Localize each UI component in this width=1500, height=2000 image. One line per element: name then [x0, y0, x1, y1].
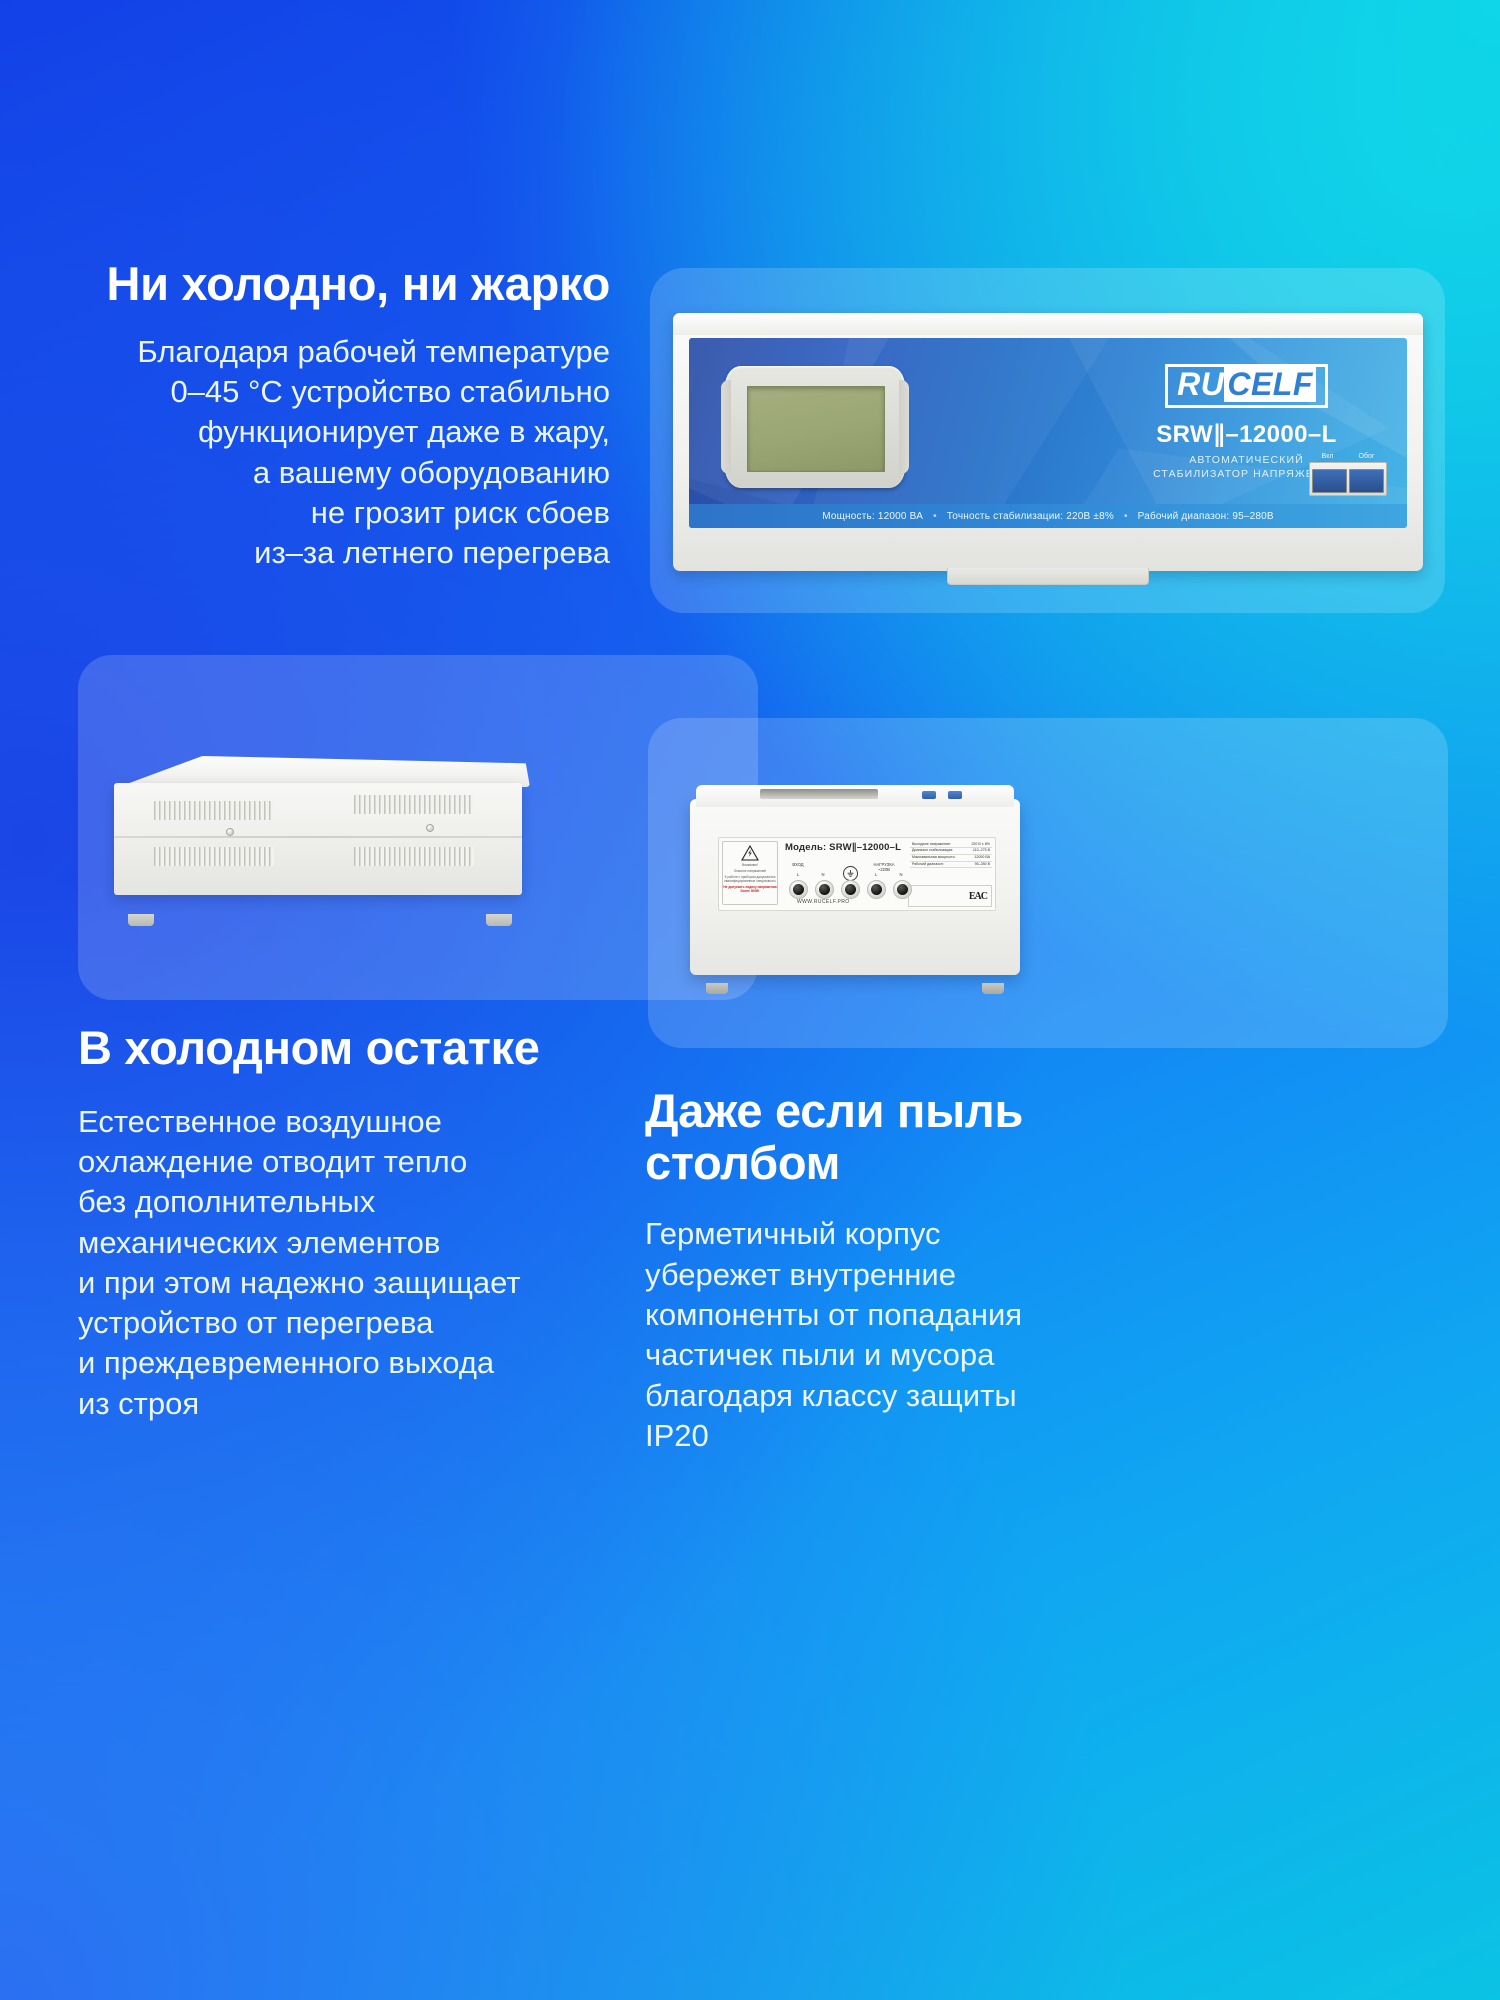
- spec-row: Выходное напряжение: 220 В ± 8%: [910, 841, 992, 848]
- vent-grille: [354, 847, 474, 866]
- device-foot: [128, 914, 154, 926]
- device-rear-lid: [696, 785, 1014, 807]
- logo-text-ru: RU: [1177, 366, 1224, 402]
- poster-background: Ни холодно, ни жарко Благодаря рабочей т…: [0, 0, 1500, 2000]
- spec-row: Диапазон стабилизации: 110–275 В: [910, 848, 992, 855]
- device-model-name: SRW∥–12000–L: [1104, 420, 1389, 449]
- terminal-port[interactable]: [867, 880, 886, 899]
- section-2-body-line: охлаждение отводит тепло: [78, 1142, 738, 1182]
- high-voltage-warning-icon: [741, 845, 759, 861]
- spec-separator-icon: •: [933, 511, 937, 522]
- section-3-body-line: убережет внутренние: [645, 1255, 1305, 1295]
- breaker-switch-2[interactable]: [1349, 469, 1384, 493]
- certification-box: EAC: [908, 885, 992, 907]
- stabilizer-rear-view: Внимание! Опасное напряжение! К работе с…: [690, 785, 1020, 985]
- logo-text-celf: CELF: [1224, 366, 1316, 402]
- section-3-body-line: компоненты от попадания: [645, 1295, 1305, 1335]
- manufacturer-website: WWW.RUCELF.PRO: [797, 899, 850, 905]
- section-1-body-line: 0–45 °C устройство стабильно: [0, 372, 610, 412]
- section-1-body: Благодаря рабочей температуре 0–45 °C ус…: [0, 332, 610, 574]
- warning-red-text: Не допускать подачу напряжения более 300…: [723, 885, 777, 893]
- terminal-indicator: [948, 791, 962, 799]
- stabilizer-side-view: [110, 755, 530, 915]
- section-2-body-line: и преждевременного выхода: [78, 1343, 738, 1383]
- spec-value: 110–275 В: [973, 848, 990, 853]
- port-label-load-n: N: [890, 872, 912, 877]
- device-foot: [706, 983, 728, 994]
- section-3-body-line: IP20: [645, 1416, 1305, 1456]
- section-3-heading-line: Даже если пыль: [645, 1085, 1305, 1137]
- terminal-indicator: [922, 791, 936, 799]
- section-1-body-line: Благодаря рабочей температуре: [0, 332, 610, 372]
- breaker-switch-1[interactable]: [1312, 469, 1347, 493]
- port-label-input-l: L: [787, 872, 809, 877]
- section-3-body-line: благодаря классу защиты: [645, 1376, 1305, 1416]
- section-2-body-line: Естественное воздушное: [78, 1102, 738, 1142]
- rear-info-label: Внимание! Опасное напряжение! К работе с…: [718, 837, 996, 911]
- screw-icon: [426, 824, 434, 832]
- section-2-body-line: и при этом надежно защищает: [78, 1263, 738, 1303]
- port-label-load-l: L: [865, 872, 887, 877]
- port-group-label-input: ВХОД: [787, 862, 809, 867]
- warning-label: Внимание! Опасное напряжение! К работе с…: [722, 841, 778, 905]
- spec-key: Максимальная мощность:: [912, 855, 956, 860]
- breaker-label-left: Вкл: [1322, 453, 1334, 460]
- device-faceplate: RUCELF SRW∥–12000–L АВТОМАТИЧЕСКИЙ СТАБИ…: [689, 338, 1407, 528]
- warning-title: Внимание!: [742, 863, 758, 867]
- terminal-port[interactable]: [789, 880, 808, 899]
- section-2-body-line: из строя: [78, 1384, 738, 1424]
- device-side-body: [114, 783, 522, 895]
- stabilizer-front-view: RUCELF SRW∥–12000–L АВТОМАТИЧЕСКИЙ СТАБИ…: [673, 313, 1423, 571]
- spec-strip: Мощность: 12000 ВА • Точность стабилизац…: [689, 504, 1407, 528]
- spec-separator-icon: •: [1124, 511, 1128, 522]
- spec-value: 12000 ВА: [974, 855, 990, 860]
- section-2-heading: В холодном остатке: [78, 1022, 738, 1074]
- device-foot: [486, 914, 512, 926]
- spec-row: Рабочий диапазон: 95–280 В: [910, 862, 992, 869]
- section-1-body-line: а вашему оборудованию: [0, 453, 610, 493]
- spec-accuracy: Точность стабилизации: 220В ±8%: [947, 511, 1114, 522]
- section-3-body-line: частичек пыли и мусора: [645, 1335, 1305, 1375]
- lcd-display: [747, 386, 885, 472]
- warning-note: К работе с прибором допускаются квалифиц…: [723, 875, 777, 883]
- port-label-input-n: N: [812, 872, 834, 877]
- section-3-heading-line: столбом: [645, 1137, 1305, 1189]
- vent-grille: [354, 795, 474, 814]
- section-1-body-line: из–за летнего перегрева: [0, 533, 610, 573]
- screw-icon: [226, 828, 234, 836]
- section-2-body-line: без дополнительных: [78, 1182, 738, 1222]
- spec-value: 220 В ± 8%: [971, 842, 990, 847]
- section-3-body: Герметичный корпус убережет внутренние к…: [645, 1214, 1305, 1456]
- section-cold-remainder-text: В холодном остатке Естественное воздушно…: [78, 1022, 738, 1424]
- eac-mark-icon: EAC: [969, 891, 987, 902]
- section-1-body-line: не грозит риск сбоев: [0, 493, 610, 533]
- spec-key: Диапазон стабилизации:: [912, 848, 953, 853]
- section-no-cold-no-hot-text: Ни холодно, ни жарко Благодаря рабочей т…: [0, 258, 610, 573]
- spec-range: Рабочий диапазон: 95–280В: [1138, 511, 1274, 522]
- terminal-port-ground[interactable]: [841, 880, 860, 899]
- device-foot: [982, 983, 1004, 994]
- section-2-body-line: механических элементов: [78, 1223, 738, 1263]
- section-1-body-line: функционирует даже в жару,: [0, 412, 610, 452]
- vent-grille: [154, 801, 274, 820]
- rucelf-logo: RUCELF: [1165, 364, 1328, 408]
- terminal-port[interactable]: [815, 880, 834, 899]
- vent-grille: [154, 847, 274, 866]
- section-1-heading: Ни холодно, ни жарко: [0, 258, 610, 310]
- spec-key: Выходное напряжение:: [912, 842, 951, 847]
- circuit-breaker-switches[interactable]: [1309, 462, 1387, 496]
- section-dust-text: Даже если пыль столбом Герметичный корпу…: [645, 1085, 1305, 1456]
- spec-power: Мощность: 12000 ВА: [822, 511, 923, 522]
- section-3-body-line: Герметичный корпус: [645, 1214, 1305, 1254]
- section-2-body-line: устройство от перегрева: [78, 1303, 738, 1343]
- section-3-heading: Даже если пыль столбом: [645, 1085, 1305, 1188]
- ground-symbol-icon: [843, 866, 858, 881]
- warning-line: Опасное напряжение!: [734, 869, 767, 873]
- lcd-bezel: [725, 366, 905, 488]
- device-top-edge: [673, 313, 1423, 335]
- spec-row: Максимальная мощность: 12000 ВА: [910, 855, 992, 862]
- cable-slot: [760, 789, 878, 799]
- device-seam-line: [114, 836, 522, 838]
- breaker-label-right: Обог: [1359, 453, 1375, 460]
- section-2-body: Естественное воздушное охлаждение отводи…: [78, 1102, 738, 1424]
- spec-value: 95–280 В: [975, 862, 990, 867]
- device-bottom-bracket: [947, 568, 1149, 585]
- spec-key: Рабочий диапазон:: [912, 862, 944, 867]
- rear-model-label: Модель: SRW∥–12000–L: [785, 842, 901, 853]
- breaker-labels: Вкл Обог: [1309, 453, 1387, 460]
